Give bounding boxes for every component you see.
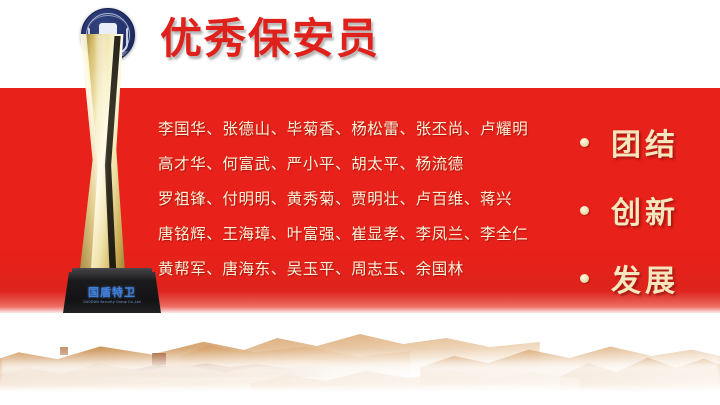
slogan-item: 发展: [580, 244, 720, 312]
slogan-column: 团结 创新 发展: [580, 108, 720, 312]
trophy-cup: [68, 34, 146, 286]
trophy-base-plaque: 国盾特卫 GUODUN Security Group Co.,Ltd: [76, 287, 148, 305]
name-row: 高才华、何富武、严小平、胡太平、杨流德: [158, 147, 570, 182]
plaque-company-name: 国盾特卫: [76, 287, 148, 299]
honoree-name-list: 李国华、张德山、毕菊香、杨松雷、张丕尚、卢耀明 高才华、何富武、严小平、胡太平、…: [158, 112, 570, 287]
name-row: 黄帮军、唐海东、吴玉平、周志玉、余国林: [158, 252, 570, 287]
page-title: 优秀保安员: [160, 8, 380, 70]
slogan-label: 创新: [611, 188, 679, 232]
bullet-dot-icon: [580, 274, 589, 283]
great-wall-mountain-illustration: [0, 313, 720, 405]
slogan-item: 团结: [580, 108, 720, 176]
name-row: 罗祖锋、付明明、黄秀菊、贾明壮、卢百维、蒋兴: [158, 182, 570, 217]
plaque-company-name-en: GUODUN Security Group Co.,Ltd: [78, 299, 146, 305]
slogan-item: 创新: [580, 176, 720, 244]
slogan-label: 团结: [611, 120, 679, 164]
trophy-highlight: [96, 34, 106, 286]
poster-banner: 优秀保安员 国盾特卫 GUODUN Security Group Co.,Ltd…: [0, 0, 720, 405]
trophy-graphic: 国盾特卫 GUODUN Security Group Co.,Ltd: [28, 4, 178, 320]
name-row: 唐铭辉、王海璋、叶富强、崔显孝、李凤兰、李全仁: [158, 217, 570, 252]
bullet-dot-icon: [580, 206, 589, 215]
bottom-fade: [0, 359, 720, 405]
name-row: 李国华、张德山、毕菊香、杨松雷、张丕尚、卢耀明: [158, 112, 570, 147]
bullet-dot-icon: [580, 138, 589, 147]
slogan-label: 发展: [611, 256, 679, 300]
